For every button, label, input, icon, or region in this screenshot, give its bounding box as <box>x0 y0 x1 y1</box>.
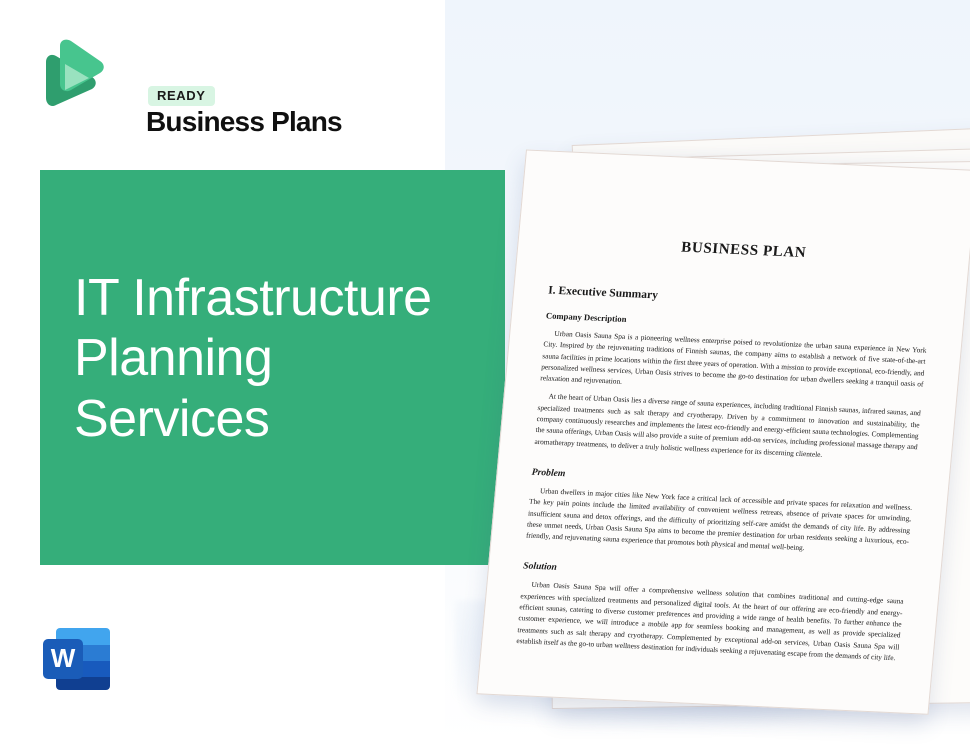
document-section-heading: I. Executive Summary <box>548 285 931 314</box>
document-title: BUSINESS PLAN <box>552 234 936 268</box>
document-paragraph-company-2: At the heart of Urban Oasis lies a diver… <box>534 391 921 465</box>
brand-header: READY Business Plans <box>40 36 370 112</box>
slide-canvas: READY Business Plans IT Infrastructure P… <box>0 0 970 744</box>
document-sheet-front[interactable]: BUSINESS PLAN I. Executive Summary Compa… <box>476 149 970 714</box>
play-triangle-logo-icon <box>40 38 104 108</box>
document-paragraph-company-1: Urban Oasis Sauna Spa is a pioneering we… <box>540 327 927 401</box>
document-body: BUSINESS PLAN I. Executive Summary Compa… <box>516 174 941 664</box>
ready-badge: READY <box>148 86 215 106</box>
document-preview-stack[interactable]: Urban Oasis Sauna Spa is a pioneering we… <box>430 120 970 720</box>
brand-wordmark: Business Plans <box>146 108 342 136</box>
svg-text:W: W <box>51 643 76 673</box>
document-paragraph-solution: Urban Oasis Sauna Spa will offer a compr… <box>516 579 904 664</box>
document-paragraph-problem: Urban dwellers in major cities like New … <box>526 485 913 559</box>
microsoft-word-icon: W <box>38 620 116 698</box>
